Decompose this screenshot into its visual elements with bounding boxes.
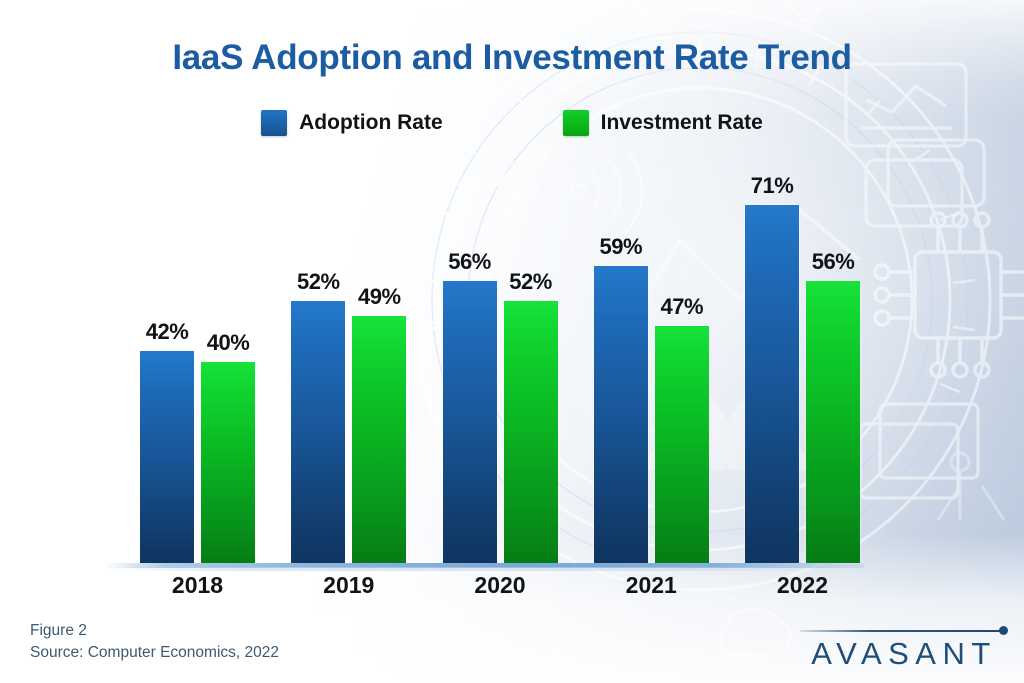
bar-group-2018: 42%40% <box>140 160 255 563</box>
legend-item-adoption-rate[interactable]: Adoption Rate <box>261 110 442 136</box>
logo-wordmark: AVASANT <box>790 636 1018 672</box>
chart-slide: IaaS Adoption and Investment Rate Trend … <box>0 0 1024 683</box>
bar-2018-adoption-rate[interactable]: 42% <box>140 351 194 563</box>
bar-value-label: 40% <box>207 330 250 356</box>
bar-wrap-2019-adoption-rate: 52% <box>291 160 345 563</box>
figure-number: Figure 2 <box>30 620 279 642</box>
source-line: Source: Computer Economics, 2022 <box>30 642 279 664</box>
legend-label-adoption-rate: Adoption Rate <box>299 111 442 135</box>
bar-value-label: 59% <box>599 234 642 260</box>
bar-value-label: 71% <box>751 173 794 199</box>
bar-group-2019: 52%49% <box>291 160 406 563</box>
legend-item-investment-rate[interactable]: Investment Rate <box>563 110 763 136</box>
bar-value-label: 52% <box>297 269 340 295</box>
x-axis-tick-labels: 20182019202020212022 <box>140 572 860 606</box>
square-swatch-icon <box>563 110 589 136</box>
bar-value-label: 56% <box>448 249 491 275</box>
logo-rule-icon <box>800 630 1000 632</box>
bar-value-label: 47% <box>660 294 703 320</box>
footer-caption: Figure 2 Source: Computer Economics, 202… <box>30 620 279 665</box>
square-swatch-icon <box>261 110 287 136</box>
logo-dot-icon <box>999 626 1008 635</box>
bar-wrap-2022-adoption-rate: 71% <box>745 160 799 563</box>
x-tick-2020: 2020 <box>474 572 525 599</box>
bar-wrap-2022-investment-rate: 56% <box>806 160 860 563</box>
x-tick-2022: 2022 <box>777 572 828 599</box>
bar-2022-investment-rate[interactable]: 56% <box>806 281 860 563</box>
bar-2020-adoption-rate[interactable]: 56% <box>443 281 497 563</box>
bar-wrap-2019-investment-rate: 49% <box>352 160 406 563</box>
avasant-logo[interactable]: AVASANT <box>790 622 1018 674</box>
bar-wrap-2018-adoption-rate: 42% <box>140 160 194 563</box>
bar-2019-adoption-rate[interactable]: 52% <box>291 301 345 563</box>
bar-2021-adoption-rate[interactable]: 59% <box>594 266 648 563</box>
x-axis-line <box>104 563 864 568</box>
bar-wrap-2021-investment-rate: 47% <box>655 160 709 563</box>
x-tick-2019: 2019 <box>323 572 374 599</box>
bar-value-label: 52% <box>509 269 552 295</box>
bar-group-2020: 56%52% <box>443 160 558 563</box>
x-tick-2021: 2021 <box>626 572 677 599</box>
bar-2022-adoption-rate[interactable]: 71% <box>745 205 799 563</box>
bar-wrap-2018-investment-rate: 40% <box>201 160 255 563</box>
chart-title: IaaS Adoption and Investment Rate Trend <box>0 38 1024 78</box>
chart-legend: Adoption Rate Investment Rate <box>0 110 1024 136</box>
bar-value-label: 49% <box>358 284 401 310</box>
bar-2018-investment-rate[interactable]: 40% <box>201 362 255 564</box>
legend-label-investment-rate: Investment Rate <box>601 111 763 135</box>
bar-wrap-2020-adoption-rate: 56% <box>443 160 497 563</box>
bar-2020-investment-rate[interactable]: 52% <box>504 301 558 563</box>
bar-value-label: 56% <box>812 249 855 275</box>
bar-group-2022: 71%56% <box>745 160 860 563</box>
x-tick-2018: 2018 <box>172 572 223 599</box>
bar-wrap-2020-investment-rate: 52% <box>504 160 558 563</box>
bar-wrap-2021-adoption-rate: 59% <box>594 160 648 563</box>
bar-2019-investment-rate[interactable]: 49% <box>352 316 406 563</box>
bar-group-2021: 59%47% <box>594 160 709 563</box>
bar-2021-investment-rate[interactable]: 47% <box>655 326 709 563</box>
plot-area: 42%40%52%49%56%52%59%47%71%56% <box>140 160 860 563</box>
bar-value-label: 42% <box>146 319 189 345</box>
